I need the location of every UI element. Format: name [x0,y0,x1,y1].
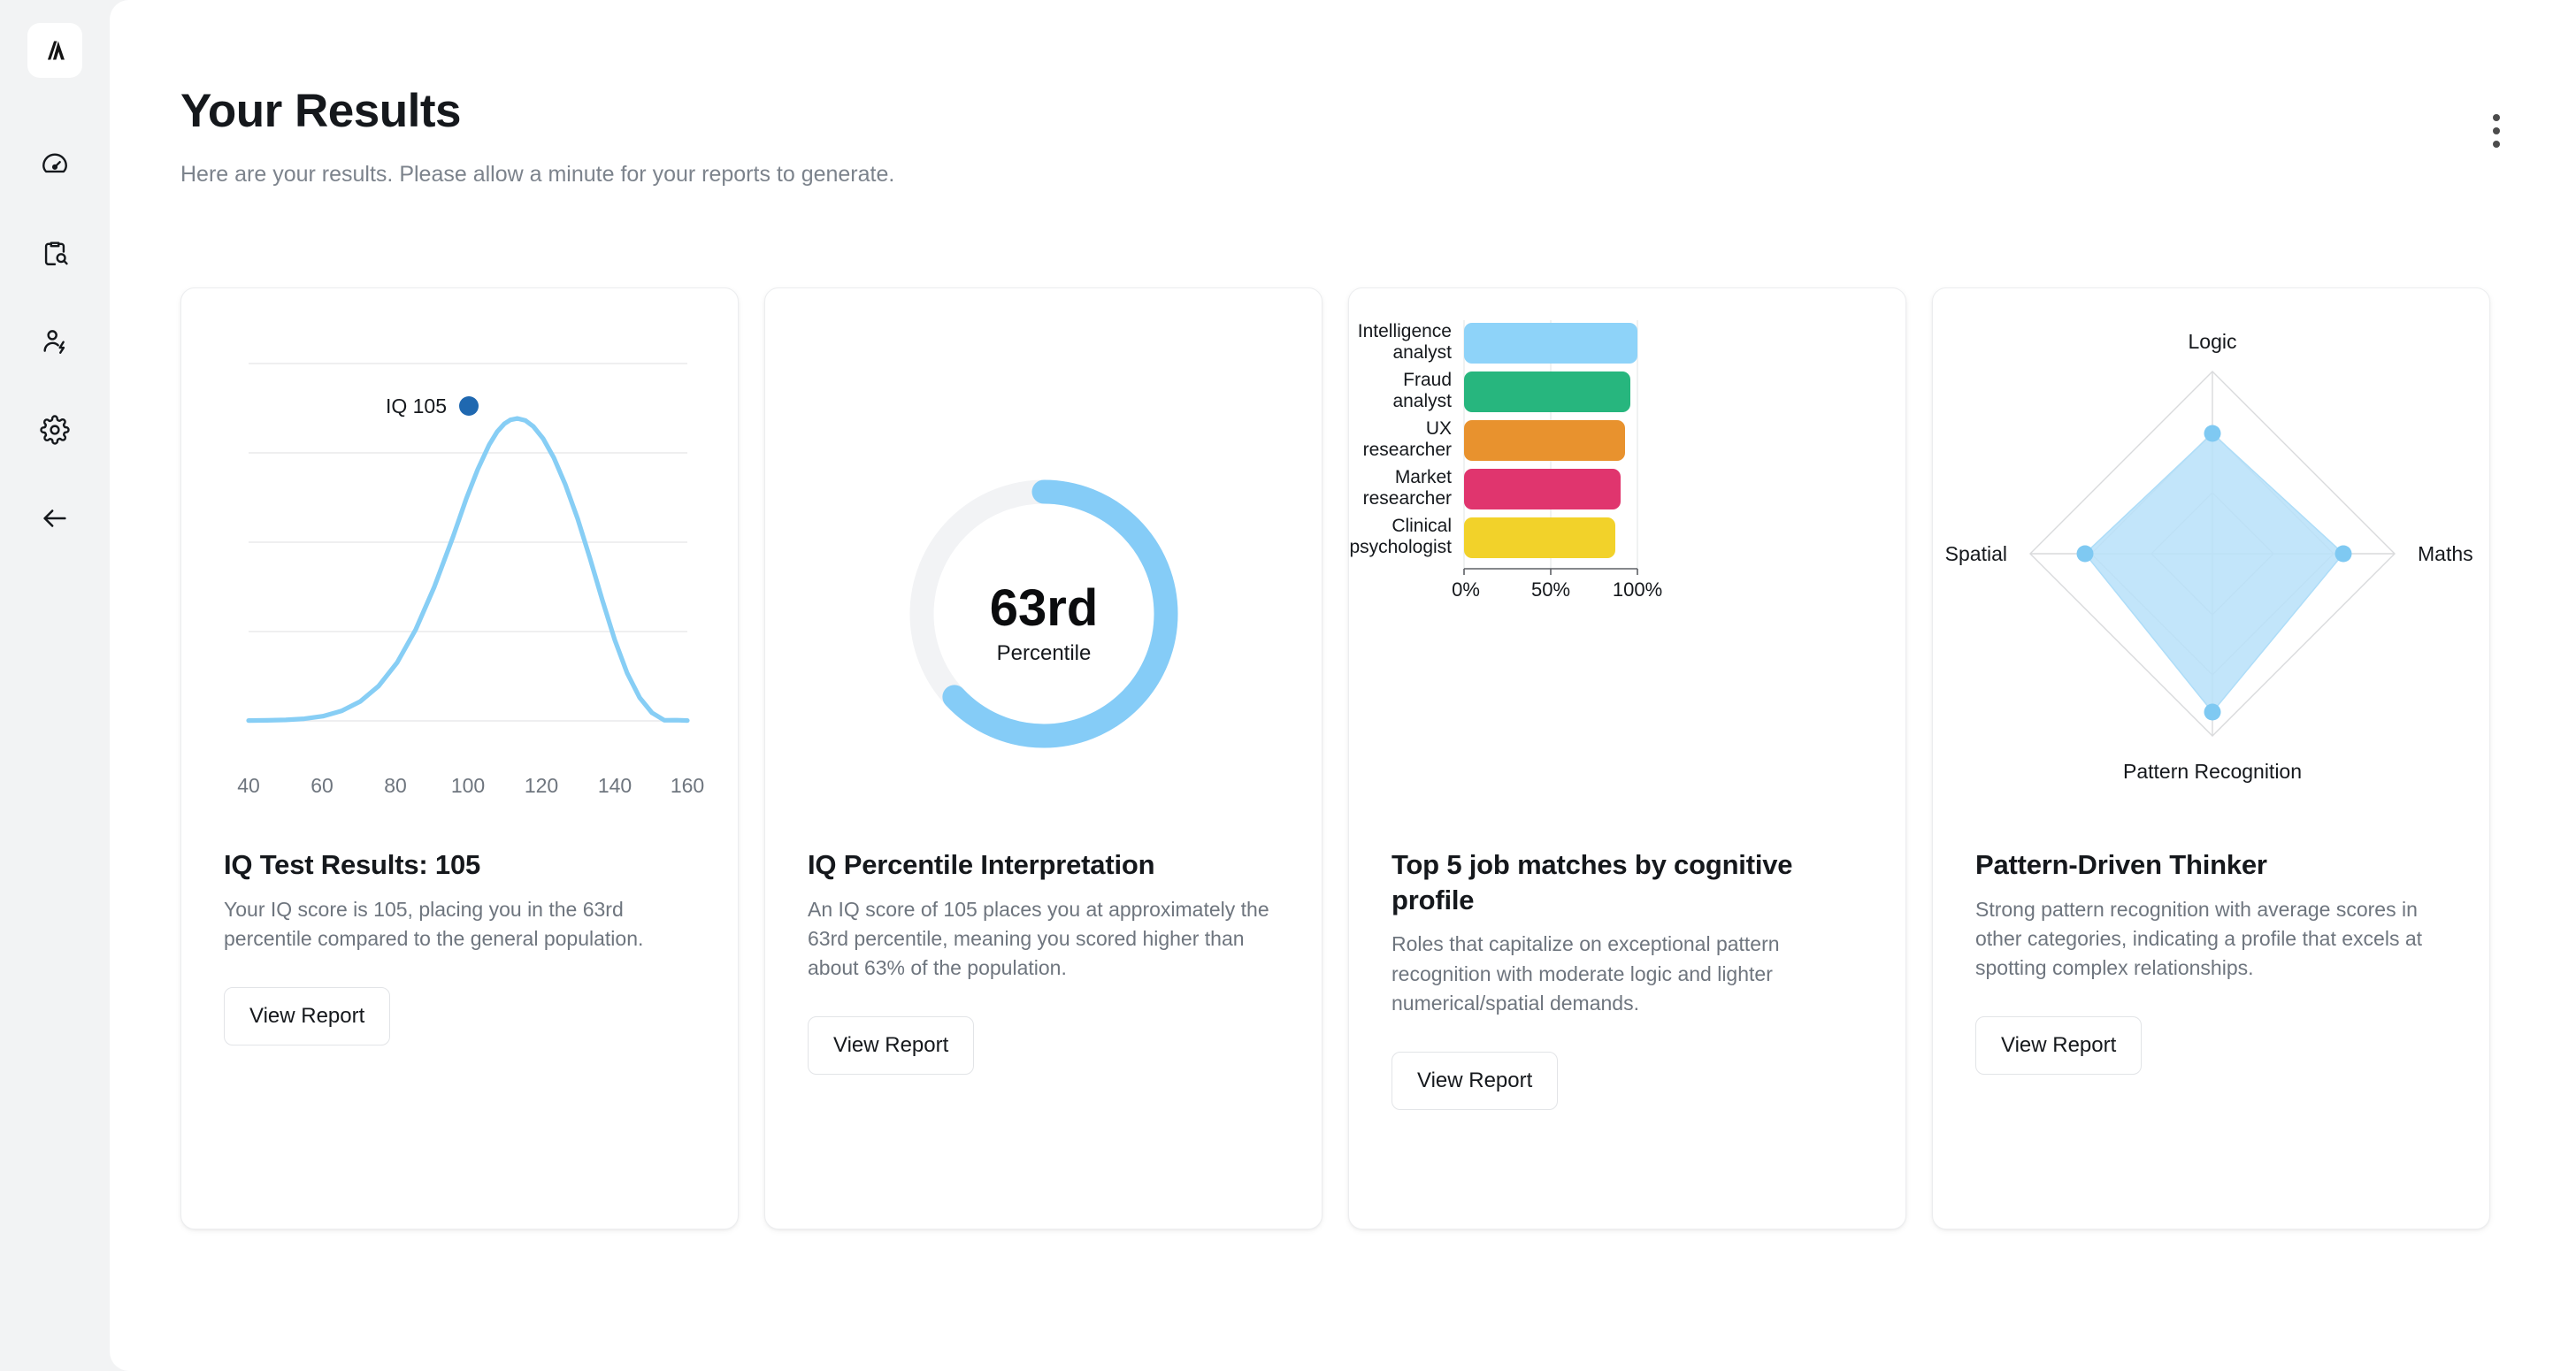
card-pattern-driven-thinker: Logic Maths Pattern Recognition Spatial … [1932,287,2490,1229]
user-lightning-icon [40,326,70,361]
view-report-button[interactable]: View Report [1391,1052,1558,1110]
svg-text:120: 120 [525,774,558,797]
bar-group [1464,323,1637,558]
app-logo[interactable] [27,23,82,78]
bar-label: analyst [1392,342,1452,363]
view-report-button[interactable]: View Report [224,987,390,1045]
sidebar [0,0,110,1371]
svg-text:50%: 50% [1531,578,1570,601]
bar-intelligence-analyst [1464,323,1637,364]
radar-point-maths [2335,546,2352,563]
bar-ux-researcher [1464,420,1625,461]
donut-center-label: Percentile [997,641,1092,665]
dashboard-gauge-icon [40,149,70,184]
bar-market-researcher [1464,469,1621,509]
bar-label: Fraud [1403,370,1452,390]
bar-label: analyst [1392,391,1452,411]
radar-point-pattern [2204,704,2221,721]
svg-text:80: 80 [384,774,407,797]
x-axis [1464,569,1637,575]
svg-text:60: 60 [310,774,333,797]
bar-label: researcher [1363,488,1452,509]
radar-axis-label-spatial: Spatial [1945,542,2007,565]
kebab-dot [2493,114,2500,121]
gear-icon [40,415,70,449]
card-description: An IQ score of 105 places you at approxi… [808,895,1279,983]
card-body: Pattern-Driven Thinker Strong pattern re… [1933,847,2489,1229]
radar-data-area [2085,433,2343,712]
card-title: IQ Test Results: 105 [224,847,695,883]
y-axis-labels: Intelligence analyst Fraud analyst UX re… [1349,321,1452,557]
sidebar-item-dashboard[interactable] [35,147,74,186]
bell-curve-line [249,418,687,720]
radar-point-spatial [2077,546,2094,563]
sidebar-item-settings[interactable] [35,412,74,451]
page-header: Your Results Here are your results. Plea… [110,0,2576,188]
card-description: Roles that capitalize on exceptional pat… [1391,930,1863,1017]
bar-label: Clinical [1391,516,1452,536]
kebab-dot [2493,127,2500,134]
bar-label: Intelligence [1358,321,1452,341]
card-description: Your IQ score is 105, placing you in the… [224,895,695,954]
sidebar-item-assessments[interactable] [35,235,74,274]
bar-label: researcher [1363,440,1452,460]
bar-clinical-psychologist [1464,517,1615,558]
job-match-bar-chart: Intelligence analyst Fraud analyst UX re… [1349,288,1905,847]
bar-label: psychologist [1349,537,1452,557]
sidebar-item-candidates[interactable] [35,324,74,363]
radar-axis-label-logic: Logic [2189,330,2237,353]
cognitive-radar-chart: Logic Maths Pattern Recognition Spatial [1933,288,2489,847]
card-title: Top 5 job matches by cognitive profile [1391,847,1863,917]
svg-text:160: 160 [671,774,704,797]
bell-curve-marker [459,396,479,416]
card-body: IQ Percentile Interpretation An IQ score… [765,847,1322,1229]
view-report-button[interactable]: View Report [1975,1016,2142,1075]
back-arrow-icon [40,503,70,538]
radar-axis-label-pattern: Pattern Recognition [2123,760,2302,783]
card-body: Top 5 job matches by cognitive profile R… [1349,847,1905,1229]
page-title: Your Results [180,87,2576,136]
clipboard-search-icon [40,238,70,272]
results-card-grid: IQ 105 40 60 80 100 120 140 160 [110,188,2576,1229]
kebab-dot [2493,141,2500,148]
main-panel: Your Results Here are your results. Plea… [110,0,2576,1371]
bar-label: UX [1426,418,1452,439]
card-top-job-matches: Intelligence analyst Fraud analyst UX re… [1348,287,1906,1229]
x-axis-labels: 0% 50% 100% [1452,578,1662,601]
donut-center-value: 63rd [990,579,1099,637]
page-subtitle: Here are your results. Please allow a mi… [180,160,2576,189]
x-axis-labels: 40 60 80 100 120 140 160 [237,774,704,797]
view-report-button[interactable]: View Report [808,1016,974,1075]
bar-fraud-analyst [1464,371,1630,412]
kebab-menu-icon[interactable] [2479,104,2514,157]
bell-curve-annotation: IQ 105 [386,394,447,417]
card-title: Pattern-Driven Thinker [1975,847,2447,883]
radar-point-logic [2204,425,2221,442]
bell-curve-chart: IQ 105 40 60 80 100 120 140 160 [181,288,738,847]
card-body: IQ Test Results: 105 Your IQ score is 10… [181,847,738,1229]
chart-gridlines [249,364,687,721]
card-iq-test-results: IQ 105 40 60 80 100 120 140 160 [180,287,739,1229]
card-description: Strong pattern recognition with average … [1975,895,2447,983]
card-iq-percentile-interpretation: 63rd Percentile IQ Percentile Interpreta… [764,287,1322,1229]
sidebar-item-back[interactable] [35,501,74,540]
radar-axis-label-maths: Maths [2418,542,2473,565]
svg-text:0%: 0% [1452,578,1480,601]
card-title: IQ Percentile Interpretation [808,847,1279,883]
svg-text:40: 40 [237,774,260,797]
svg-text:100: 100 [451,774,485,797]
app-root: Your Results Here are your results. Plea… [0,0,2576,1371]
bar-label: Market [1395,467,1452,487]
percentile-donut-chart: 63rd Percentile [765,288,1322,847]
svg-text:100%: 100% [1613,578,1662,601]
sidebar-nav [35,147,74,540]
svg-text:140: 140 [598,774,632,797]
